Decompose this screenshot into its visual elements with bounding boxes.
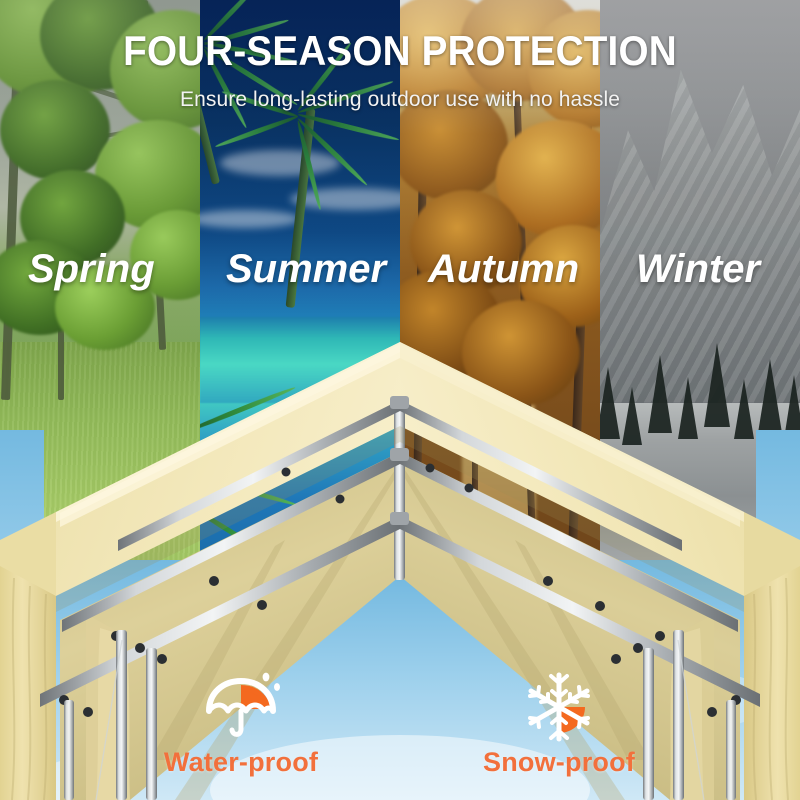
season-label-winter: Winter [636,243,760,295]
product-marketing-image: FOUR-SEASON PROTECTION Ensure long-lasti… [0,0,800,800]
snowflake-icon [454,665,664,743]
umbrella-icon [136,665,346,743]
feature-badges: Water-proof [0,665,800,778]
feature-water-proof: Water-proof [136,665,346,778]
feature-label: Snow-proof [454,747,664,778]
feature-label: Water-proof [136,747,346,778]
feature-snow-proof: Snow-proof [454,665,664,778]
season-label-autumn: Autumn [428,243,579,295]
season-label-spring: Spring [28,243,155,295]
season-label-summer: Summer [226,243,386,295]
